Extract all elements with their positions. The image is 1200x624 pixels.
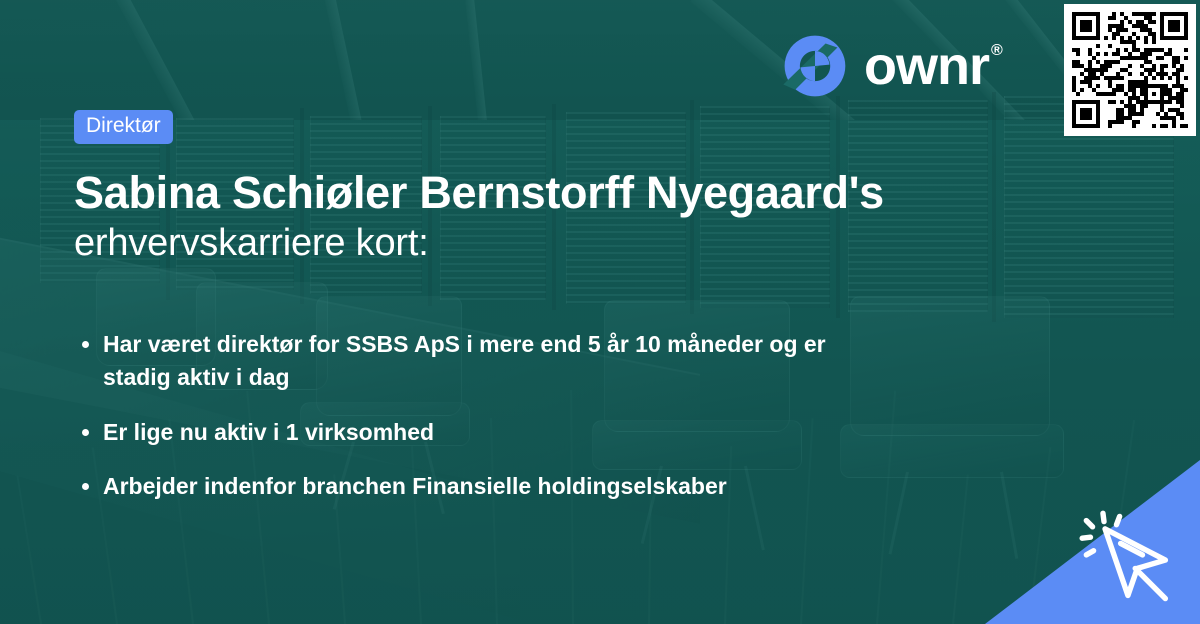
list-item: Har været direktør for SSBS ApS i mere e… — [74, 328, 874, 393]
list-item: Arbejder indenfor branchen Finansielle h… — [74, 470, 874, 503]
qr-code-image — [1072, 12, 1188, 128]
business-career-card: ownr ® Direktør Sabina Schiøler Bernstor… — [0, 0, 1200, 624]
facts-list: Har været direktør for SSBS ApS i mere e… — [74, 328, 974, 503]
brand-wordmark: ownr ® — [864, 39, 1002, 93]
mouse-cursor-click-icon — [1078, 506, 1182, 610]
registered-trademark-icon: ® — [991, 43, 1002, 59]
page-title: Sabina Schiøler Bernstorff Nyegaard's — [74, 166, 974, 219]
list-item: Er lige nu aktiv i 1 virksomhed — [74, 416, 874, 449]
page-subtitle: erhvervskarriere kort: — [74, 221, 974, 267]
content-column: Direktør Sabina Schiøler Bernstorff Nyeg… — [74, 110, 974, 503]
ownr-circle-swoosh-icon — [782, 33, 848, 99]
role-badge: Direktør — [74, 110, 173, 144]
brand-name: ownr — [864, 39, 989, 93]
qr-code[interactable] — [1064, 4, 1196, 136]
brand-logo[interactable]: ownr ® — [782, 33, 1002, 99]
